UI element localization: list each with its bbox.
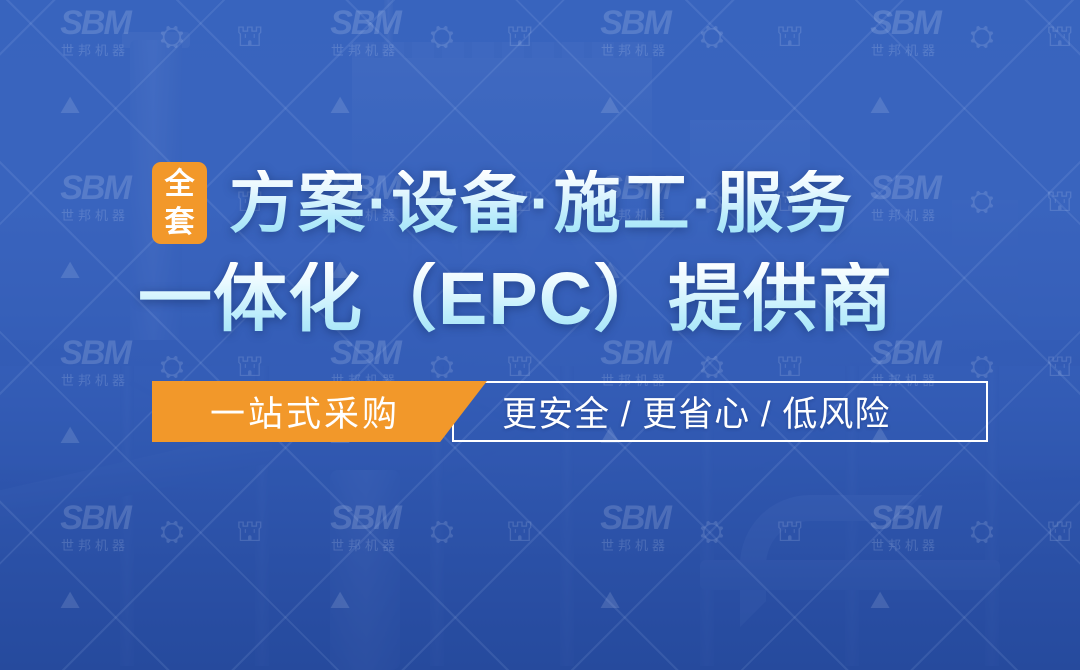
promotional-banner: SBM世邦机器⛫⛭⛰SBM世邦机器⛫⛭⛰SBM世邦机器⛫⛭⛰SBM世邦机器⛫⛭⛰… (0, 0, 1080, 670)
badge-char-bottom: 套 (165, 204, 195, 242)
banner-content: 全 套 方案·设备·施工·服务 一体化（EPC）提供商 更安全 / 更省心 / … (0, 0, 1080, 670)
badge-char-top: 全 (165, 166, 195, 204)
subtitle-strip: 更安全 / 更省心 / 低风险 一站式采购 (152, 381, 988, 442)
one-stop-purchase-label: 一站式采购 (210, 386, 400, 437)
full-set-badge: 全 套 (152, 162, 207, 244)
headline-row: 全 套 方案·设备·施工·服务 (152, 162, 854, 244)
subtitle-points: 更安全 / 更省心 / 低风险 (502, 386, 890, 437)
one-stop-purchase-tag: 一站式采购 (152, 381, 487, 442)
subtitle-outline-box: 更安全 / 更省心 / 低风险 (452, 381, 988, 442)
headline-line-2: 一体化（EPC）提供商 (138, 262, 893, 336)
headline-line-1: 方案·设备·施工·服务 (229, 170, 854, 237)
